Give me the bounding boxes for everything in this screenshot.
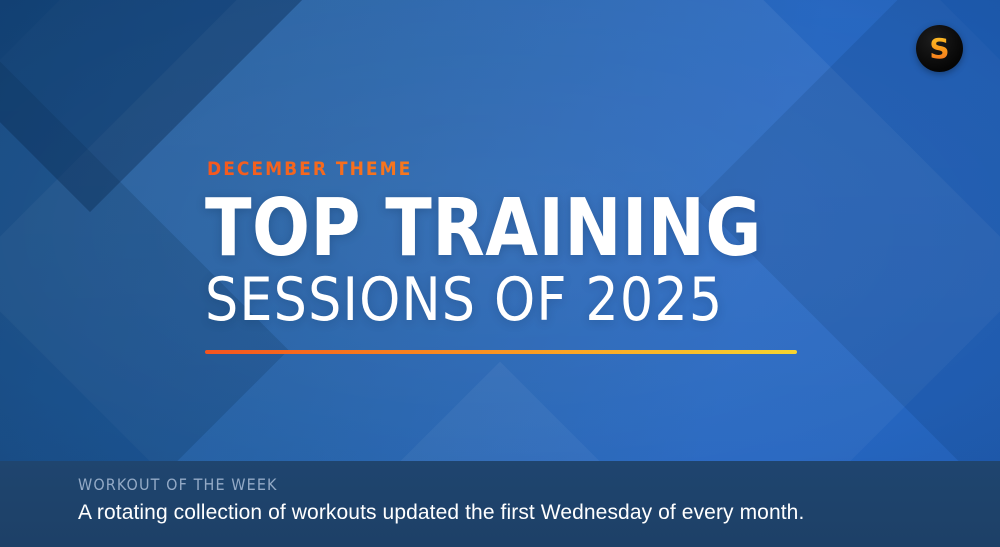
- promo-banner: S DECEMBER THEME TOP TRAINING SESSIONS O…: [0, 0, 1000, 547]
- footer-bar: WORKOUT OF THE WEEK A rotating collectio…: [0, 461, 1000, 547]
- title-underline-rule: [205, 350, 797, 354]
- brand-letter: S: [929, 35, 949, 63]
- eyebrow-label: DECEMBER THEME: [207, 160, 845, 179]
- footer-kicker-label: WORKOUT OF THE WEEK: [78, 475, 1000, 494]
- headline-block: DECEMBER THEME TOP TRAINING SESSIONS OF …: [205, 160, 845, 354]
- page-title-line1: TOP TRAINING: [205, 193, 819, 264]
- footer-description: A rotating collection of workouts update…: [78, 501, 1000, 525]
- page-title-line2: SESSIONS OF 2025: [205, 270, 826, 331]
- brand-s-badge-icon[interactable]: S: [916, 25, 963, 72]
